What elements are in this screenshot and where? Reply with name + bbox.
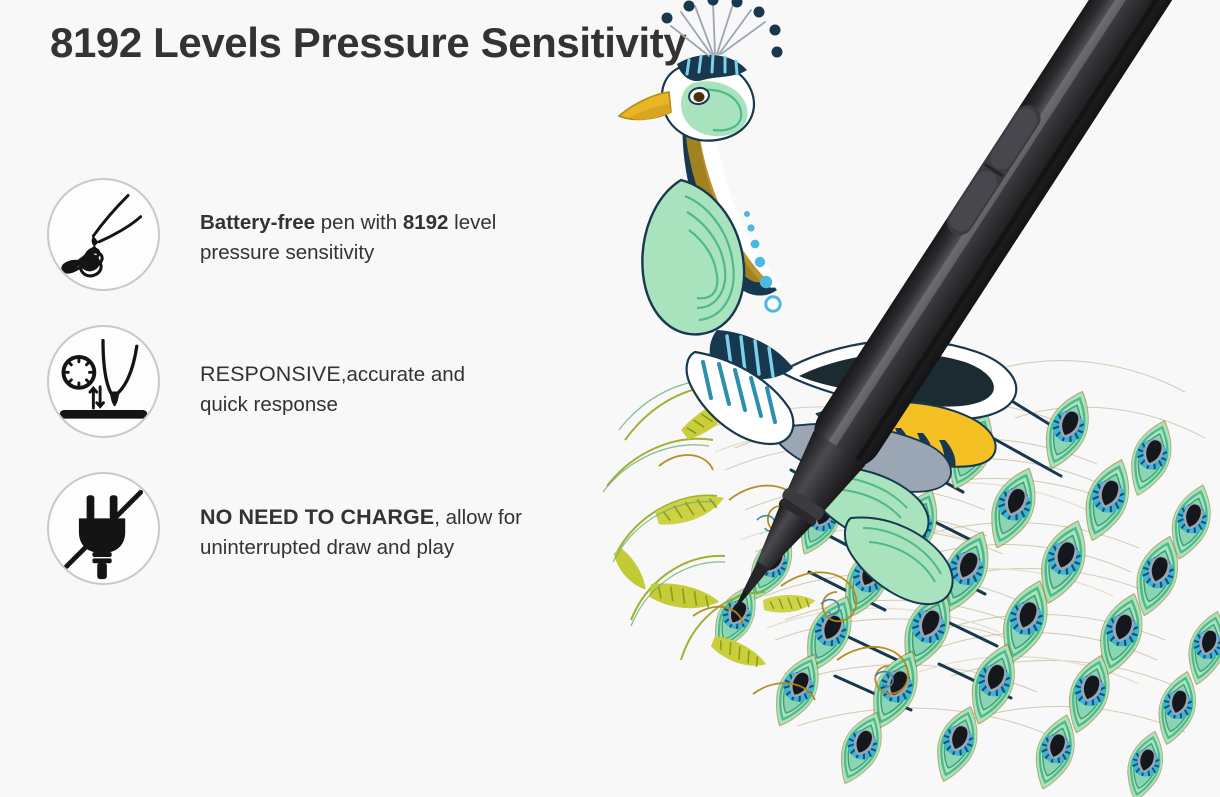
- feature-line-2: pressure sensitivity: [200, 241, 374, 264]
- feature-line-1: RESPONSIVE,accurate and: [200, 363, 465, 386]
- feature-item-responsive: RESPONSIVE,accurate and quick response: [47, 325, 617, 472]
- feature-line-2: uninterrupted draw and play: [200, 536, 454, 559]
- feature-text-battery-free: Battery-free pen with 8192 level pressur…: [200, 208, 610, 268]
- feature-item-battery-free: Battery-free pen with 8192 level pressur…: [47, 178, 617, 325]
- stylus-pen: VEIKK: [585, 0, 1220, 797]
- product-feature-panel: 8192 Levels Pressure Sensitivity Battery…: [0, 0, 1220, 797]
- clock-pen-tap-icon: [47, 325, 160, 438]
- feature-text-responsive: RESPONSIVE,accurate and quick response: [200, 359, 610, 420]
- feature-line-2: quick response: [200, 393, 338, 416]
- pen-pressure-stroke-icon: [47, 178, 160, 291]
- peacock-illustration-with-stylus: VEIKK: [585, 0, 1220, 797]
- no-charge-plug-icon: [47, 472, 160, 585]
- feature-line-1: Battery-free pen with 8192 level: [200, 211, 496, 234]
- feature-text-no-charge: NO NEED TO CHARGE, allow for uninterrupt…: [200, 502, 610, 563]
- feature-item-no-charge: NO NEED TO CHARGE, allow for uninterrupt…: [47, 472, 617, 619]
- feature-line-1: NO NEED TO CHARGE, allow for: [200, 506, 522, 529]
- feature-list: Battery-free pen with 8192 level pressur…: [47, 178, 617, 619]
